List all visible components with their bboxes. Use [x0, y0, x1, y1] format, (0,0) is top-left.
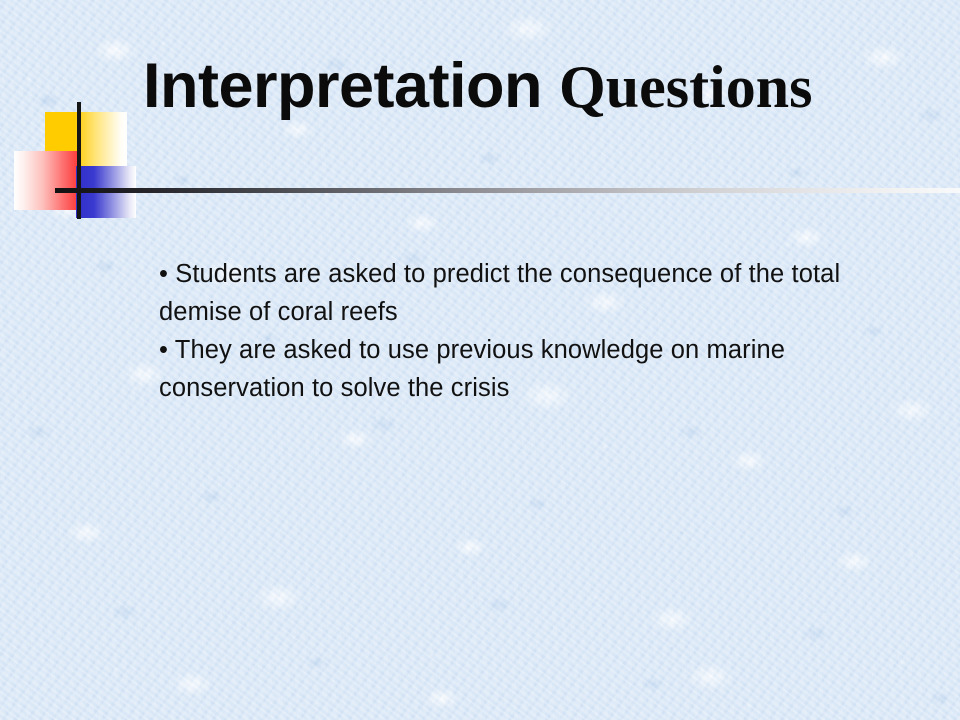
- horizontal-rule-line: [55, 188, 960, 193]
- bullet-text-2: They are asked to use previous knowledge…: [159, 336, 785, 402]
- slide-title-space: [542, 51, 559, 121]
- presentation-slide: Interpretation Questions • Students are …: [0, 0, 960, 720]
- bullet-item-1: • Students are asked to predict the cons…: [159, 255, 899, 331]
- yellow-gradient-square-shape: [45, 112, 127, 168]
- bullet-marker-1: •: [159, 260, 168, 288]
- red-gradient-square-shape: [14, 151, 78, 210]
- slide-title: Interpretation Questions: [143, 55, 812, 118]
- bullet-marker-2: •: [159, 336, 168, 364]
- vertical-rule-line: [77, 102, 81, 219]
- bullet-text-1: Students are asked to predict the conseq…: [159, 260, 840, 326]
- blue-gradient-square-shape-lower: [76, 195, 136, 218]
- slide-title-primary: Interpretation: [143, 51, 542, 121]
- bullet-item-2: • They are asked to use previous knowled…: [159, 331, 899, 407]
- slide-body-content: • Students are asked to predict the cons…: [159, 255, 899, 407]
- slide-title-secondary: Questions: [559, 54, 812, 120]
- bullet-space-2: [168, 336, 175, 364]
- blue-gradient-square-shape: [76, 166, 136, 212]
